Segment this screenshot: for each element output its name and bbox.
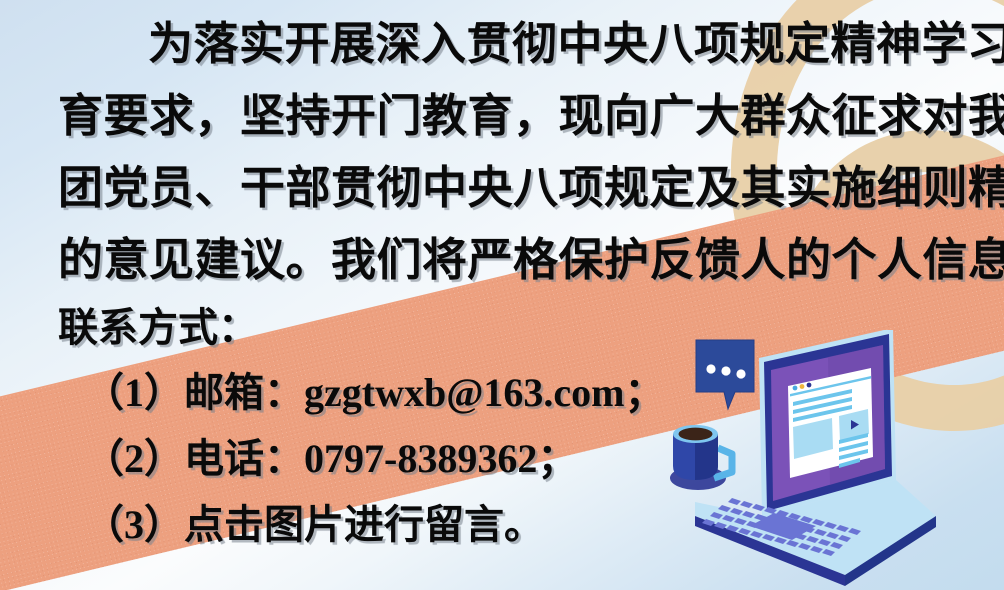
chat-dot-1: [706, 364, 715, 373]
contact-item-image-message-marker: （3）: [84, 502, 184, 547]
contact-item-email-label: 邮箱：: [184, 370, 304, 415]
window-dot-blue: [793, 386, 798, 391]
chat-dot-3: [736, 369, 745, 378]
contact-item-phone-value[interactable]: 0797-8389362；: [304, 436, 577, 481]
contact-item-phone-label: 电话：: [184, 436, 304, 481]
chat-dot-2: [721, 366, 730, 375]
window-dot-navy: [807, 383, 812, 388]
contact-item-email-marker: （1）: [84, 370, 184, 415]
poster-canvas: 为落实开展深入贯彻中央八项规定精神学习教 育要求，坚持开门教育，现向广大群众征求…: [0, 0, 1004, 590]
contact-item-image-message-label: 点击图片进行留言。: [184, 502, 544, 547]
paragraph-line-2: 育要求，坚持开门教育，现向广大群众征求对我集: [58, 80, 960, 152]
chat-bubble-icon: [696, 340, 754, 409]
paragraph-line-1: 为落实开展深入贯彻中央八项规定精神学习教: [58, 8, 960, 80]
coffee-mug-icon: [670, 425, 732, 490]
contact-item-phone-marker: （2）: [84, 436, 184, 481]
paragraph-line-3: 团党员、干部贯彻中央八项规定及其实施细则精神: [58, 152, 960, 224]
illustration-laptop-scene[interactable]: [640, 330, 1004, 590]
paragraph-line-4: 的意见建议。我们将严格保护反馈人的个人信息。: [58, 224, 960, 296]
contact-item-email-value[interactable]: gzgtwxb@163.com；: [304, 370, 665, 415]
window-dot-yellow: [800, 384, 805, 389]
